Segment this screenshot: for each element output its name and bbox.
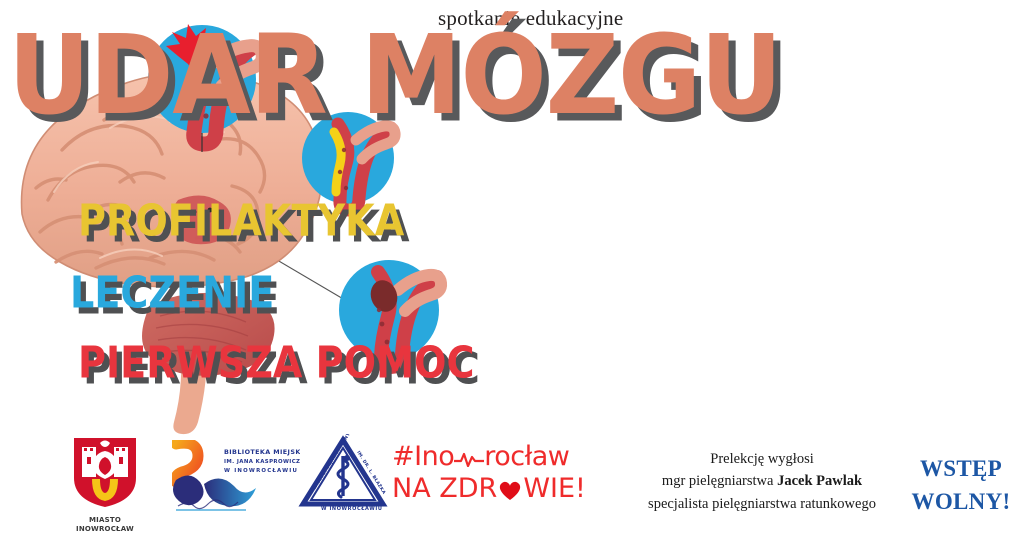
svg-text:W INOWROCŁAWIU: W INOWROCŁAWIU <box>224 468 298 474</box>
library-logo: BIBLIOTEKA MIEJSKA IM. JANA KASPROWICZA … <box>172 440 300 517</box>
admission-line-2: WOLNY! <box>905 485 1017 518</box>
hospital-bottom-text: W INOWROCŁAWIU <box>321 506 383 512</box>
page-title: UDAR MÓZGU <box>8 26 781 127</box>
admission-line-1: WSTĘP <box>905 452 1017 485</box>
poster-canvas: spotkanie edukacyjne UDAR MÓZGU PROFILAK… <box>0 0 1024 539</box>
speaker-name: Jacek Pawlak <box>777 473 862 489</box>
campaign-prefix: #Ino <box>392 441 454 472</box>
svg-text:BIBLIOTEKA MIEJSKA: BIBLIOTEKA MIEJSKA <box>224 448 300 456</box>
campaign-suffix: rocław <box>484 441 569 472</box>
subtitle-profilaktyka: PROFILAKTYKA <box>78 200 404 244</box>
campaign-line-2: NA ZDRWIE! <box>392 474 602 504</box>
svg-text:IM. JANA KASPROWICZA: IM. JANA KASPROWICZA <box>224 459 300 465</box>
speaker-line-2: mgr pielęgniarstwa Jacek Pawlak <box>618 470 906 492</box>
admission-notice: WSTĘP WOLNY! <box>905 452 1017 519</box>
campaign-logo: #Inorocław NA ZDRWIE! <box>392 442 602 503</box>
library-mark-left <box>173 475 204 505</box>
subtitle-pierwsza-pomoc: PIERWSZA POMOC <box>78 342 475 386</box>
coat-of-arms-icon <box>70 435 140 509</box>
campaign-prefix-2: NA ZDR <box>392 473 497 504</box>
speaker-line-1: Prelekcję wygłosi <box>618 448 906 470</box>
city-coat-of-arms-logo: MIASTO INOWROCŁAW <box>70 435 140 534</box>
ecg-heartbeat-icon <box>454 451 484 467</box>
hospital-logo: WIELOSPECJALISTYCZNY IM. DR. L. BŁAŻKA W… <box>295 434 391 519</box>
library-mark-right <box>204 478 256 506</box>
subtitle-leczenie: LECZENIE <box>70 272 274 316</box>
speaker-line-3: specjalista pielęgniarstwa ratunkowego <box>618 493 906 515</box>
library-logo-text: BIBLIOTEKA MIEJSKA IM. JANA KASPROWICZA … <box>224 448 300 474</box>
footer-strip: MIASTO INOWROCŁAW BIBLIOTEKA <box>0 430 1024 539</box>
campaign-line-1: #Inorocław <box>392 442 602 472</box>
heart-icon <box>497 479 523 501</box>
speaker-info: Prelekcję wygłosi mgr pielęgniarstwa Jac… <box>618 448 906 515</box>
campaign-suffix-2: WIE! <box>523 473 586 504</box>
city-logo-caption: MIASTO INOWROCŁAW <box>70 516 140 534</box>
speaker-title: mgr pielęgniarstwa <box>662 473 777 489</box>
